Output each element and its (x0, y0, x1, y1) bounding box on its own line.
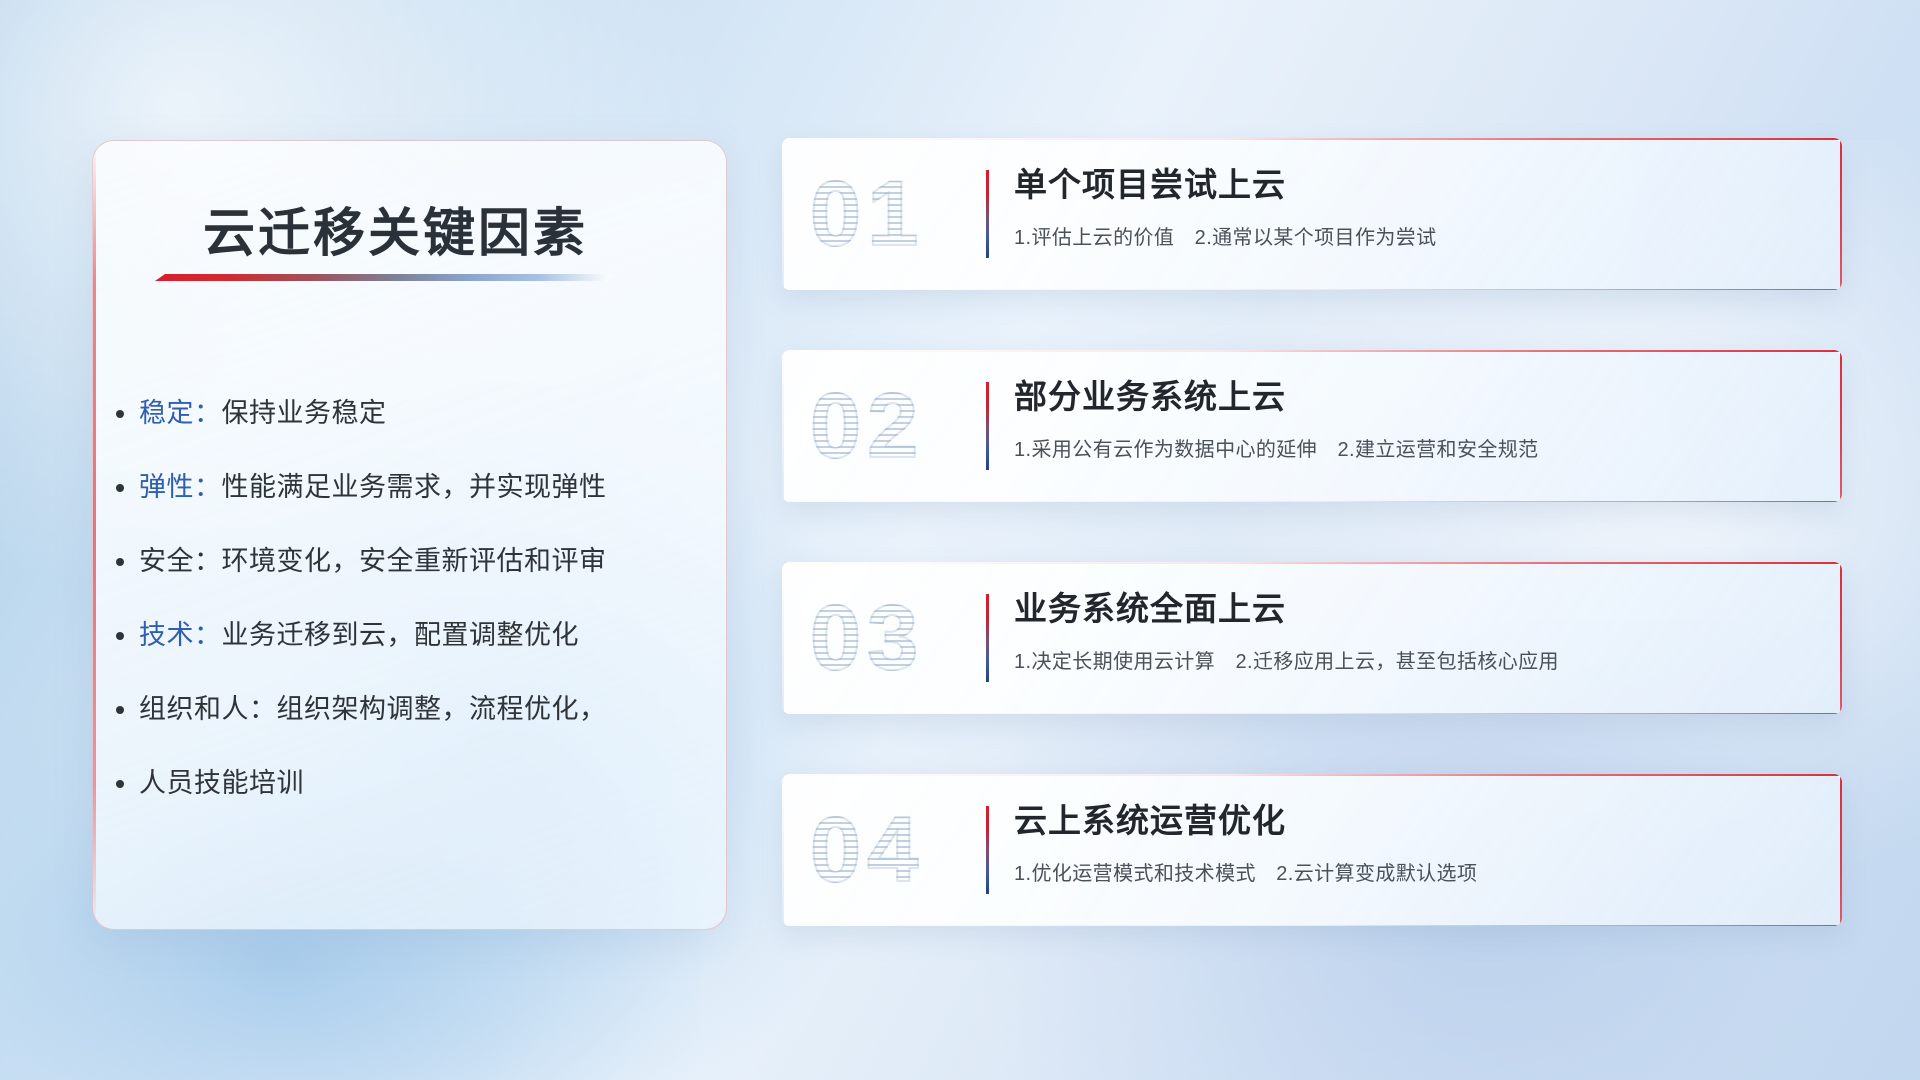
card-title: 单个项目尝试上云 (1014, 164, 1812, 205)
list-item: 组织和人：组织架构调整，流程优化， (139, 672, 692, 746)
list-item-label: 稳定： (139, 398, 222, 428)
list-item-text: 人员技能培训 (139, 768, 304, 798)
stage-card-03[interactable]: 03 业务系统全面上云 1.决定长期使用云计算 2.迁移应用上云，甚至包括核心应… (782, 562, 1842, 714)
card-accent-bottom (782, 713, 1842, 715)
card-accent-left (782, 562, 784, 714)
page-title: 云迁移关键因素 (203, 191, 588, 266)
card-divider-accent (986, 382, 989, 470)
card-accent-bottom (782, 289, 1842, 291)
list-item-label: 技术： (139, 620, 222, 650)
card-description: 1.采用公有云作为数据中心的延伸 2.建立运营和安全规范 (1014, 433, 1812, 462)
key-factors-list: 稳定：保持业务稳定 弹性：性能满足业务需求，并实现弹性 安全：环境变化，安全重新… (139, 376, 692, 820)
list-item: 技术：业务迁移到云，配置调整优化 (139, 598, 692, 672)
card-text-block: 单个项目尝试上云 1.评估上云的价值 2.通常以某个项目作为尝试 (1014, 164, 1812, 250)
list-item-label: 组织和人： (139, 694, 277, 724)
list-item: 弹性：性能满足业务需求，并实现弹性 (139, 450, 692, 524)
list-item-label: 安全： (139, 546, 222, 576)
card-title: 业务系统全面上云 (1014, 588, 1812, 629)
card-accent-right (1840, 774, 1842, 926)
card-description: 1.优化运营模式和技术模式 2.云计算变成默认选项 (1014, 857, 1812, 886)
card-accent-left (782, 138, 784, 290)
card-accent-left (782, 774, 784, 926)
card-divider-accent (986, 594, 989, 682)
list-item-text: 业务迁移到云，配置调整优化 (222, 620, 580, 650)
card-accent-right (1840, 562, 1842, 714)
card-title: 云上系统运营优化 (1014, 800, 1812, 841)
stage-card-01[interactable]: 01 单个项目尝试上云 1.评估上云的价值 2.通常以某个项目作为尝试 (782, 138, 1842, 290)
card-accent-left (782, 350, 784, 502)
stage-cards: 01 单个项目尝试上云 1.评估上云的价值 2.通常以某个项目作为尝试 02 部… (782, 138, 1842, 926)
card-number-watermark: 01 (810, 168, 924, 260)
card-accent-right (1840, 350, 1842, 502)
list-item-text: 保持业务稳定 (222, 398, 387, 428)
card-accent-top (782, 350, 1842, 352)
list-item-text: 组织架构调整，流程优化， (277, 694, 607, 724)
card-description: 1.评估上云的价值 2.通常以某个项目作为尝试 (1014, 221, 1812, 250)
card-accent-right (1840, 138, 1842, 290)
card-text-block: 业务系统全面上云 1.决定长期使用云计算 2.迁移应用上云，甚至包括核心应用 (1014, 588, 1812, 674)
card-number-watermark: 04 (810, 804, 924, 896)
card-number-watermark: 02 (810, 380, 924, 472)
card-divider-accent (986, 806, 989, 894)
card-accent-bottom (782, 501, 1842, 503)
list-item-label: 弹性： (139, 472, 222, 502)
list-item-text: 性能满足业务需求，并实现弹性 (222, 472, 607, 502)
card-accent-bottom (782, 925, 1842, 927)
list-item: 稳定：保持业务稳定 (139, 376, 692, 450)
list-item-text: 环境变化，安全重新评估和评审 (222, 546, 607, 576)
title-underline-accent (155, 274, 613, 281)
stage-card-04[interactable]: 04 云上系统运营优化 1.优化运营模式和技术模式 2.云计算变成默认选项 (782, 774, 1842, 926)
key-factors-panel: 云迁移关键因素 稳定：保持业务稳定 弹性：性能满足业务需求，并实现弹性 安全：环… (92, 140, 727, 930)
card-title: 部分业务系统上云 (1014, 376, 1812, 417)
card-accent-top (782, 562, 1842, 564)
list-item: 安全：环境变化，安全重新评估和评审 (139, 524, 692, 598)
card-number-watermark: 03 (810, 592, 924, 684)
stage-card-02[interactable]: 02 部分业务系统上云 1.采用公有云作为数据中心的延伸 2.建立运营和安全规范 (782, 350, 1842, 502)
slide-root: 云迁移关键因素 稳定：保持业务稳定 弹性：性能满足业务需求，并实现弹性 安全：环… (0, 0, 1920, 1080)
card-text-block: 部分业务系统上云 1.采用公有云作为数据中心的延伸 2.建立运营和安全规范 (1014, 376, 1812, 462)
list-item-continuation: 人员技能培训 (139, 746, 692, 820)
card-divider-accent (986, 170, 989, 258)
card-text-block: 云上系统运营优化 1.优化运营模式和技术模式 2.云计算变成默认选项 (1014, 800, 1812, 886)
card-accent-top (782, 774, 1842, 776)
card-description: 1.决定长期使用云计算 2.迁移应用上云，甚至包括核心应用 (1014, 645, 1812, 674)
card-accent-top (782, 138, 1842, 140)
